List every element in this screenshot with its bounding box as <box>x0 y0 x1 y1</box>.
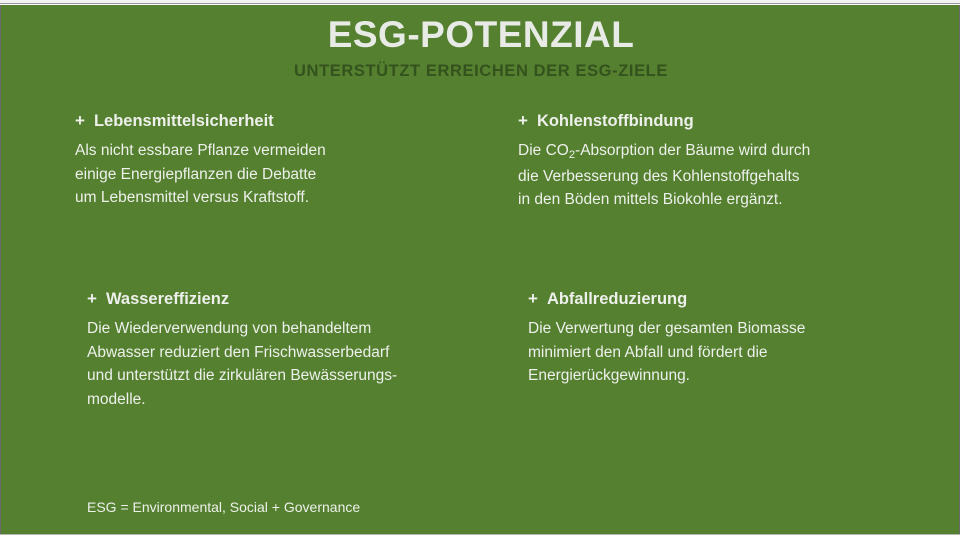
benefit-block-water-efficiency: + Wassereffizienz Die Wiederverwendung v… <box>87 288 487 411</box>
benefit-heading-row: + Wassereffizienz <box>87 288 487 310</box>
benefit-body-line: Als nicht essbare Pflanze vermeiden <box>75 139 475 163</box>
footnote-esg-definition: ESG = Environmental, Social + Governance <box>87 497 360 517</box>
benefit-body: Die Verwertung der gesamten Biomasse min… <box>528 317 928 388</box>
benefit-body-line: Die Verwertung der gesamten Biomasse <box>528 317 928 341</box>
page-title: ESG-POTENZIAL <box>1 13 960 57</box>
bottom-edge-strip <box>0 534 960 540</box>
benefit-heading-row: + Abfallreduzierung <box>528 288 928 310</box>
slide: ESG-POTENZIAL UNTERSTÜTZT ERREICHEN DER … <box>0 0 960 540</box>
subscript-two: 2 <box>569 149 575 161</box>
benefit-body-line: einige Energiepflanzen die Debatte <box>75 163 475 187</box>
plus-icon: + <box>87 288 97 310</box>
benefit-body-line: und unterstützt die zirkulären Bewässeru… <box>87 364 487 388</box>
benefit-body: Die CO2-Absorption der Bäume wird durch … <box>518 139 918 212</box>
benefit-body-line: modelle. <box>87 388 487 412</box>
benefit-heading-row: + Kohlenstoffbindung <box>518 110 918 132</box>
benefit-heading: Abfallreduzierung <box>547 288 687 310</box>
benefit-body-line: in den Böden mittels Biokohle ergänzt. <box>518 188 918 212</box>
benefit-heading: Kohlenstoffbindung <box>537 110 694 132</box>
benefit-heading: Wassereffizienz <box>106 288 229 310</box>
benefit-body-line: minimiert den Abfall und fördert die <box>528 341 928 365</box>
benefit-body-line: um Lebensmittel versus Kraftstoff. <box>75 186 475 210</box>
benefit-block-food-security: + Lebensmittelsicherheit Als nicht essba… <box>75 110 475 210</box>
top-edge-strip <box>0 0 960 4</box>
benefit-body-line: Abwasser reduziert den Frischwasserbedar… <box>87 341 487 365</box>
content-panel: ESG-POTENZIAL UNTERSTÜTZT ERREICHEN DER … <box>0 5 960 534</box>
benefit-body: Als nicht essbare Pflanze vermeiden eini… <box>75 139 475 210</box>
plus-icon: + <box>518 110 528 132</box>
benefit-body-line-co2: Die CO2-Absorption der Bäume wird durch <box>518 139 918 165</box>
plus-icon: + <box>528 288 538 310</box>
benefit-heading-row: + Lebensmittelsicherheit <box>75 110 475 132</box>
benefit-body-line: die Verbesserung des Kohlenstoffgehalts <box>518 165 918 189</box>
benefit-body-line: Energierückgewinnung. <box>528 364 928 388</box>
benefit-block-waste-reduction: + Abfallreduzierung Die Verwertung der g… <box>528 288 928 388</box>
benefit-block-carbon-sequestration: + Kohlenstoffbindung Die CO2-Absorption … <box>518 110 918 212</box>
benefit-body: Die Wiederverwendung von behandeltem Abw… <box>87 317 487 411</box>
benefit-heading: Lebensmittelsicherheit <box>94 110 274 132</box>
page-subtitle: UNTERSTÜTZT ERREICHEN DER ESG-ZIELE <box>1 61 960 81</box>
plus-icon: + <box>75 110 85 132</box>
benefit-body-line: Die Wiederverwendung von behandeltem <box>87 317 487 341</box>
